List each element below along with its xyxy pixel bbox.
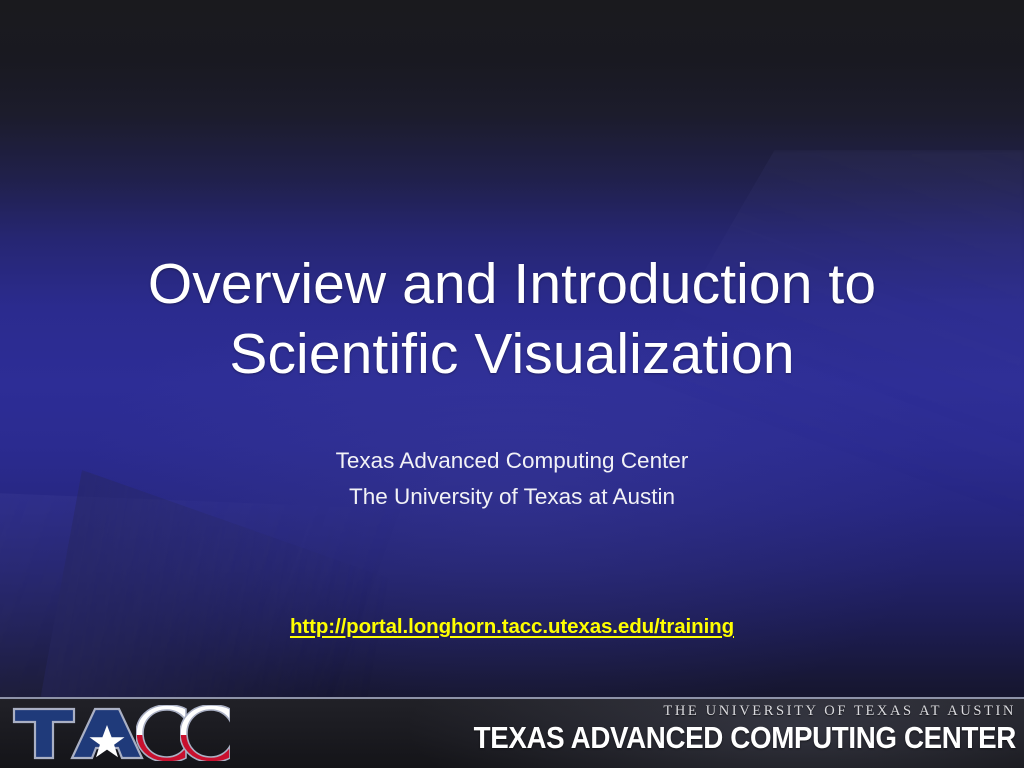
tacc-logo (12, 705, 230, 761)
university-name: THE UNIVERSITY OF TEXAS AT AUSTIN (410, 702, 1016, 720)
tacc-logo-letter-t (14, 709, 74, 758)
tacc-logo-svg (12, 705, 230, 761)
slide-title: Overview and Introduction to Scientific … (0, 250, 1024, 389)
tacc-logo-letter-a (72, 709, 142, 758)
tacc-logo-letter-c-2 (180, 705, 230, 761)
training-url-container: http://portal.longhorn.tacc.utexas.edu/t… (0, 615, 1024, 639)
center-name: TEXAS ADVANCED COMPUTING CENTER (474, 721, 1016, 754)
slide-footer: THE UNIVERSITY OF TEXAS AT AUSTIN TEXAS … (0, 697, 1024, 768)
title-line-2: Scientific Visualization (0, 320, 1024, 390)
tacc-logo-letter-c-1 (136, 705, 186, 761)
footer-branding: THE UNIVERSITY OF TEXAS AT AUSTIN TEXAS … (410, 702, 1016, 755)
title-line-1: Overview and Introduction to (0, 250, 1024, 320)
training-url-link[interactable]: http://portal.longhorn.tacc.utexas.edu/t… (290, 615, 734, 638)
subtitle-line-1: Texas Advanced Computing Center (0, 443, 1024, 479)
presentation-slide: Overview and Introduction to Scientific … (0, 0, 1024, 768)
subtitle-line-2: The University of Texas at Austin (0, 479, 1024, 515)
slide-subtitle: Texas Advanced Computing Center The Univ… (0, 443, 1024, 516)
slide-content: Overview and Introduction to Scientific … (0, 0, 1024, 768)
